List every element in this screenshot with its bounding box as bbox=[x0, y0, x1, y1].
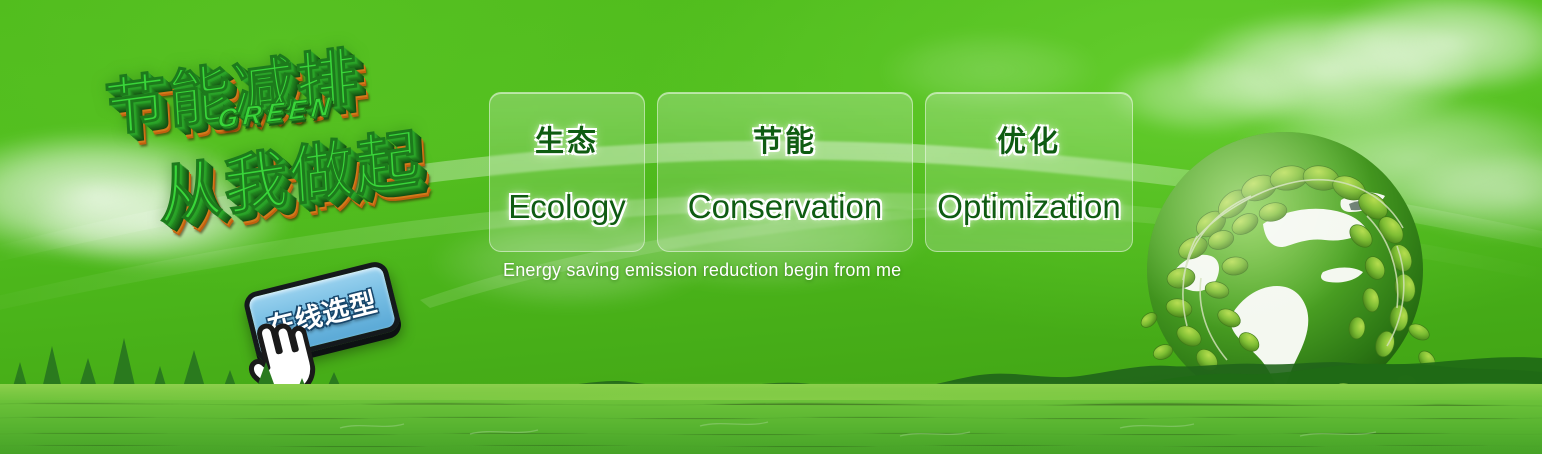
feature-card-ecology-en: Ecology bbox=[508, 188, 625, 226]
feature-card-optimization-cn: 优化 bbox=[997, 118, 1061, 160]
headline-3d: 节能减排 GREEN 从我做起 bbox=[93, 26, 496, 279]
cloud-icon bbox=[1320, 0, 1542, 95]
feature-card-ecology[interactable]: 生态 Ecology bbox=[489, 92, 645, 252]
cloud-icon bbox=[1180, 10, 1480, 130]
green-energy-banner: 节能减排 GREEN 从我做起 在线选型 生态 Ecology 节能 Conse… bbox=[0, 0, 1542, 454]
feature-card-conservation-en: Conservation bbox=[688, 188, 882, 226]
feature-card-optimization[interactable]: 优化 Optimization bbox=[925, 92, 1133, 252]
banner-tagline: Energy saving emission reduction begin f… bbox=[503, 260, 901, 281]
grass-texture-icon bbox=[0, 384, 1542, 454]
feature-card-optimization-en: Optimization bbox=[937, 188, 1120, 226]
feature-card-conservation[interactable]: 节能 Conservation bbox=[657, 92, 913, 252]
feature-card-list: 生态 Ecology 节能 Conservation 优化 Optimizati… bbox=[489, 92, 1133, 252]
feature-card-conservation-cn: 节能 bbox=[753, 118, 817, 160]
feature-card-ecology-cn: 生态 bbox=[535, 118, 599, 160]
